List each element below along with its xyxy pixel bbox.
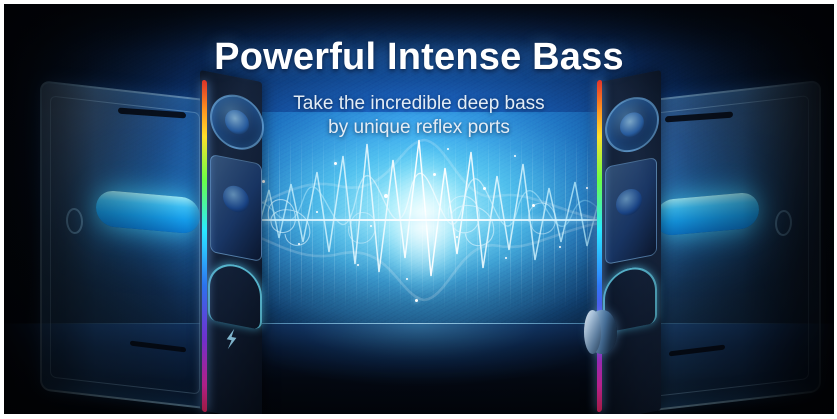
subtitle-line-1: Take the incredible deep bass: [4, 92, 834, 116]
subtitle: Take the incredible deep bass by unique …: [4, 92, 834, 140]
product-banner: Powerful Intense Bass Take the incredibl…: [0, 0, 837, 419]
subtitle-line-2: by unique reflex ports: [4, 116, 834, 140]
banner-stage: Powerful Intense Bass Take the incredibl…: [4, 4, 834, 414]
page-title: Powerful Intense Bass: [4, 36, 834, 79]
